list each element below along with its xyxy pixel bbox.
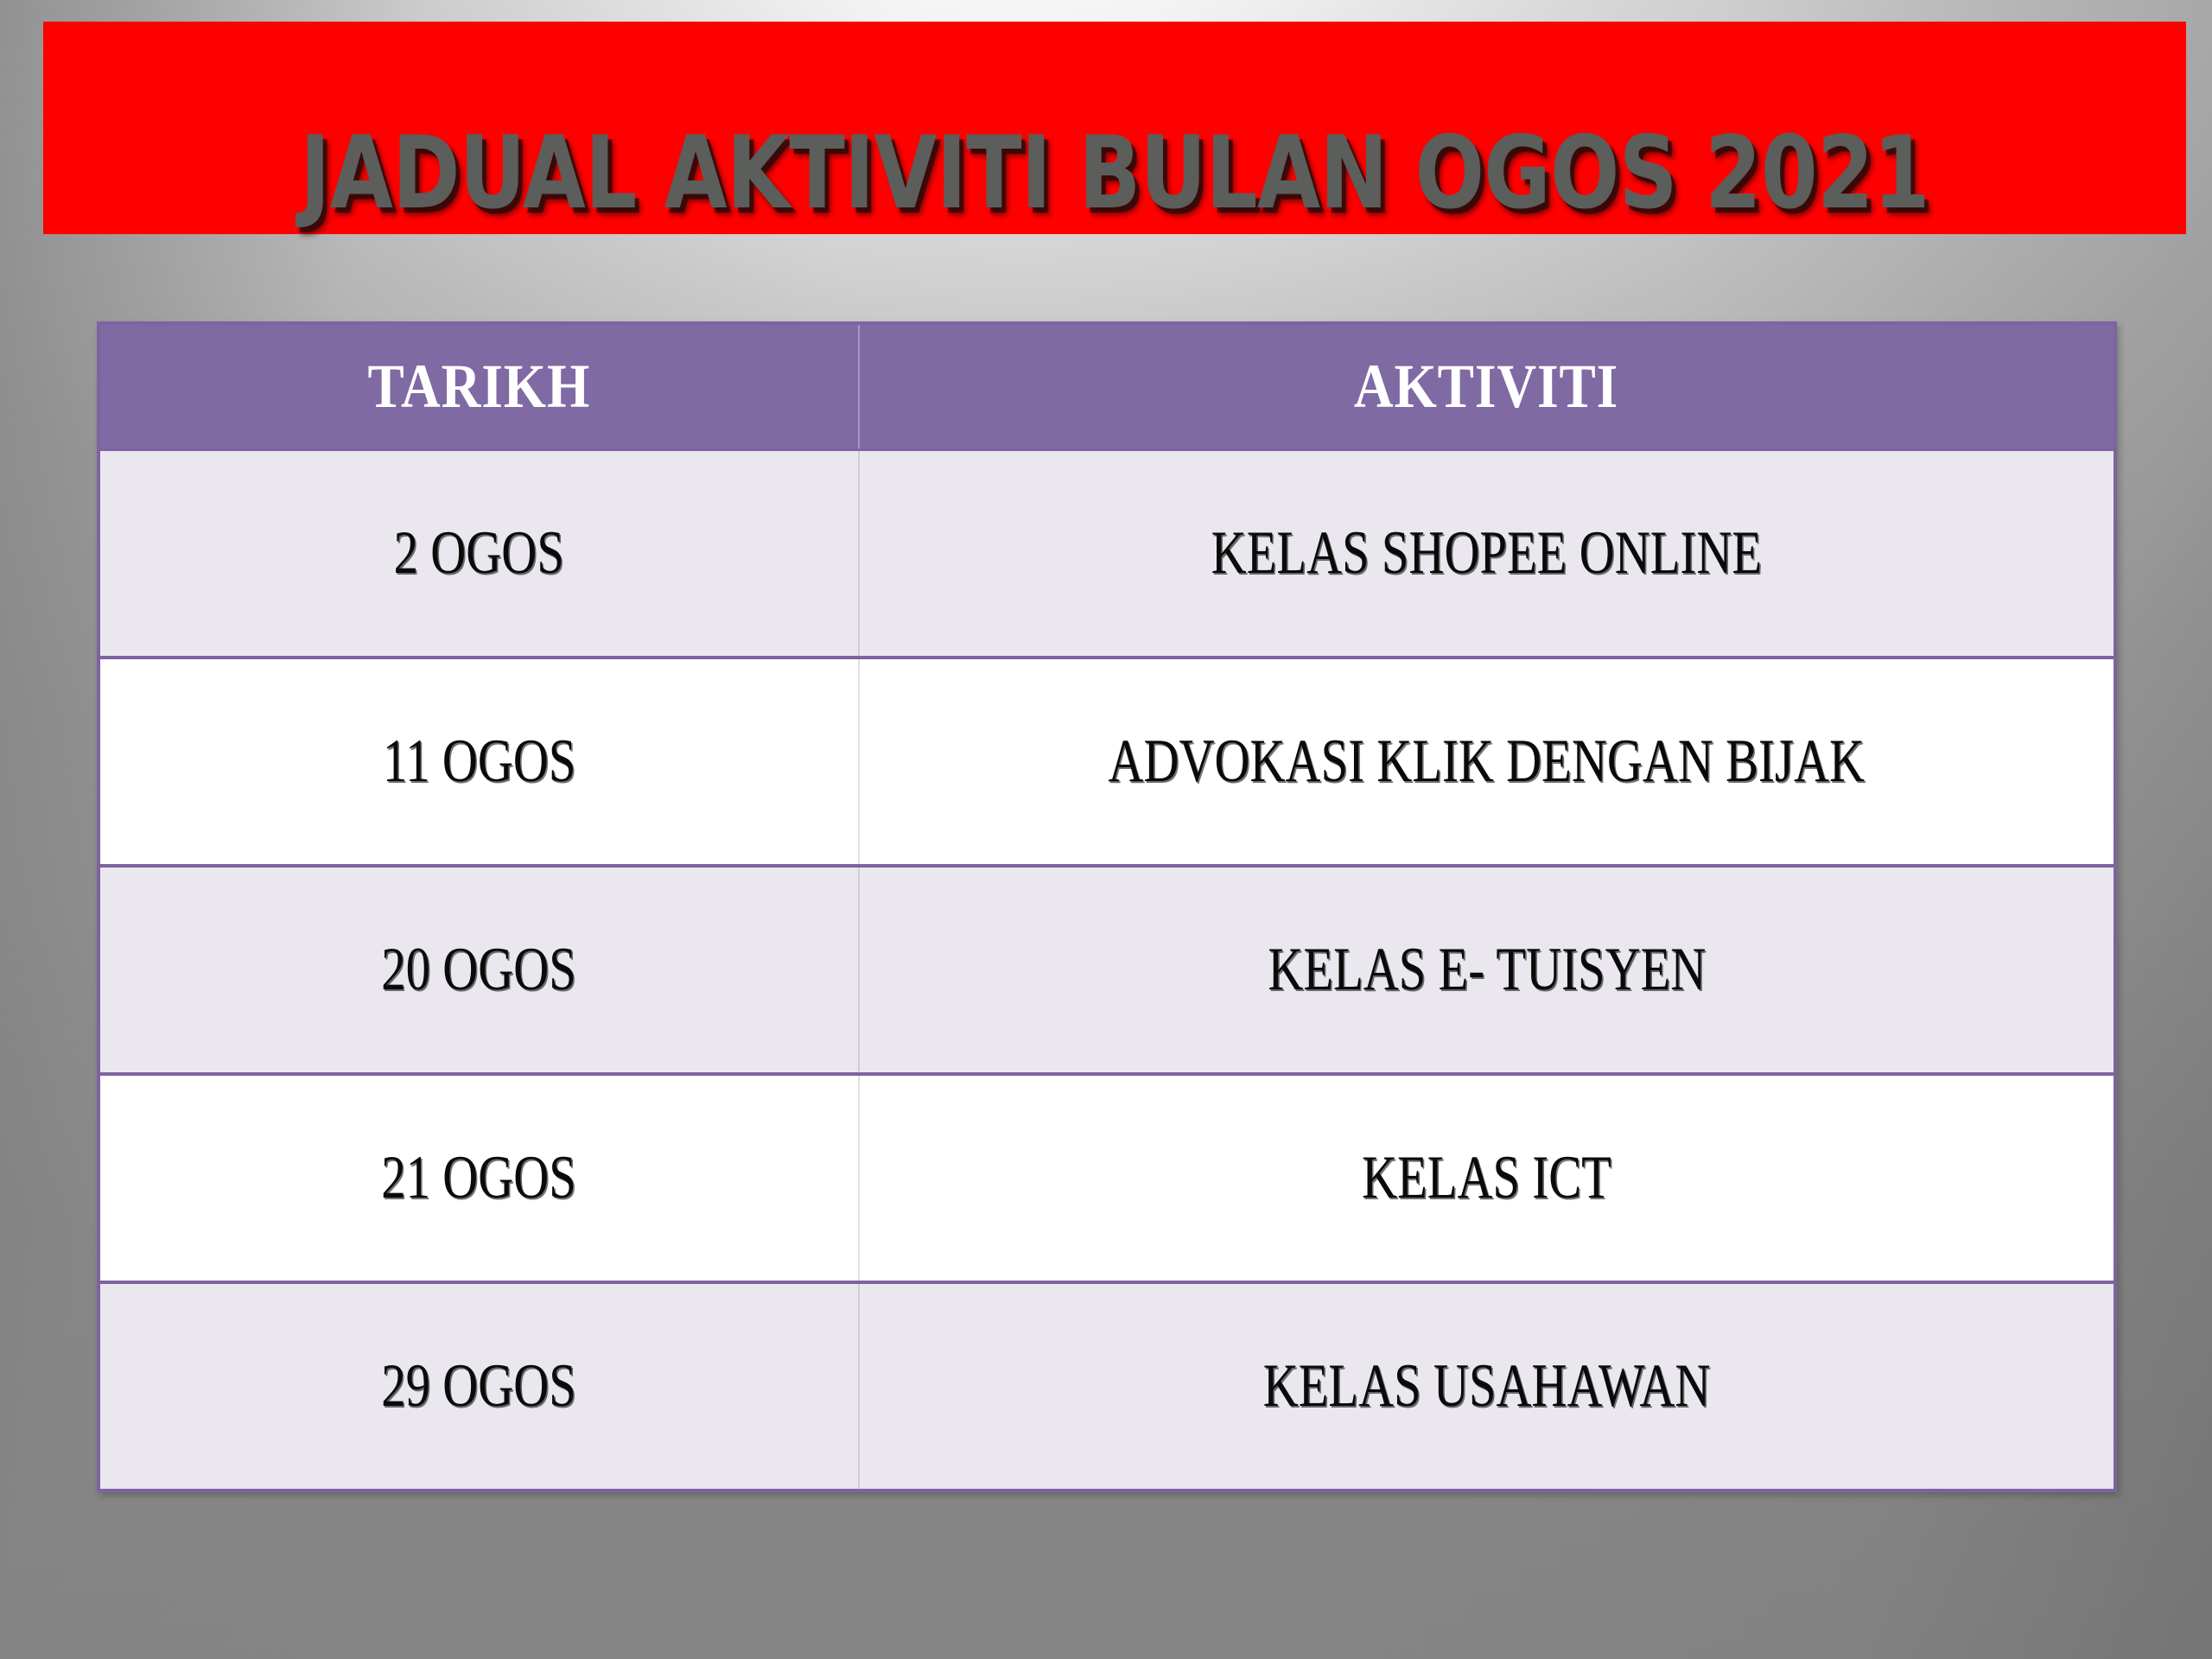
cell-activity-label: KELAS E- TUISYEN (1268, 939, 1706, 1001)
cell-activity: KELAS SHOPEE ONLINE (859, 449, 2115, 658)
cell-date: 11 OGOS (99, 658, 859, 866)
table-header-row: TARIKH AKTIVITI (99, 323, 2115, 449)
page-title: JADUAL AKTIVITI BULAN OGOS 2021 (241, 124, 1987, 224)
cell-date-label: 20 OGOS (382, 939, 577, 1001)
table-row: 11 OGOS ADVOKASI KLIK DENGAN BIJAK (99, 658, 2115, 866)
cell-date: 29 OGOS (99, 1282, 859, 1491)
cell-activity-label: KELAS ICT (1362, 1147, 1611, 1209)
cell-date-label: 21 OGOS (382, 1147, 577, 1209)
column-header-tarikh: TARIKH (99, 323, 859, 449)
cell-activity-label: KELAS SHOPEE ONLINE (1211, 523, 1762, 584)
cell-activity: KELAS ICT (859, 1074, 2115, 1282)
table-row: 21 OGOS KELAS ICT (99, 1074, 2115, 1282)
cell-date: 2 OGOS (99, 449, 859, 658)
cell-date-label: 29 OGOS (382, 1356, 577, 1417)
cell-activity: KELAS E- TUISYEN (859, 866, 2115, 1074)
cell-activity: ADVOKASI KLIK DENGAN BIJAK (859, 658, 2115, 866)
column-header-aktiviti-label: AKTIVITI (1354, 355, 1618, 417)
cell-activity-label: KELAS USAHAWAN (1263, 1356, 1711, 1417)
title-banner: JADUAL AKTIVITI BULAN OGOS 2021 (43, 22, 2186, 234)
cell-date: 20 OGOS (99, 866, 859, 1074)
table-row: 20 OGOS KELAS E- TUISYEN (99, 866, 2115, 1074)
activity-schedule-table: TARIKH AKTIVITI 2 OGOS KELAS SHOPEE ONLI… (97, 321, 2117, 1492)
cell-date-label: 2 OGOS (394, 523, 564, 584)
table-row: 2 OGOS KELAS SHOPEE ONLINE (99, 449, 2115, 658)
cell-date-label: 11 OGOS (383, 731, 576, 792)
table-row: 29 OGOS KELAS USAHAWAN (99, 1282, 2115, 1491)
cell-date: 21 OGOS (99, 1074, 859, 1282)
table-body: 2 OGOS KELAS SHOPEE ONLINE 11 OGOS ADVOK… (99, 449, 2115, 1491)
slide-canvas: JADUAL AKTIVITI BULAN OGOS 2021 TARIKH A… (0, 0, 2212, 1659)
column-header-aktiviti: AKTIVITI (859, 323, 2115, 449)
cell-activity: KELAS USAHAWAN (859, 1282, 2115, 1491)
table-header: TARIKH AKTIVITI (99, 323, 2115, 449)
column-header-tarikh-label: TARIKH (368, 355, 591, 417)
cell-activity-label: ADVOKASI KLIK DENGAN BIJAK (1109, 731, 1866, 792)
